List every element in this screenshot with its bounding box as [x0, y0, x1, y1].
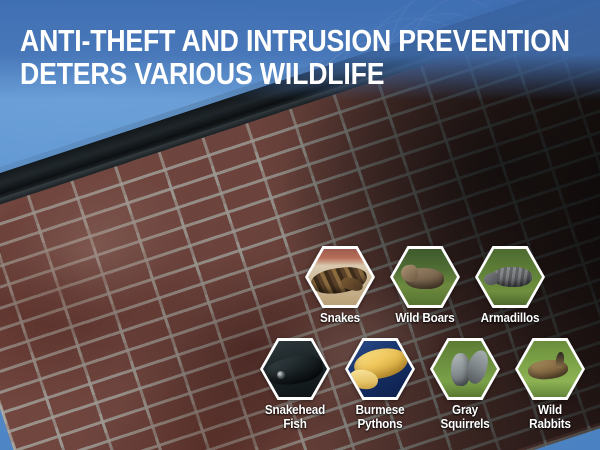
title-line-2: DETERS VARIOUS WILDLIFE: [20, 57, 502, 90]
badge-label-line-2: Pythons: [358, 416, 403, 431]
badge-wild-rabbits[interactable]: Wild Rabbits: [514, 338, 586, 431]
badge-label-line-2: Fish: [283, 416, 306, 431]
badge-label: Wild Rabbits: [518, 403, 583, 431]
badge-label-line-1: Armadillos: [481, 310, 540, 325]
badge-label: Armadillos: [478, 311, 543, 325]
badge-snakes[interactable]: Snakes: [304, 246, 376, 325]
hex-frame: [390, 246, 460, 308]
badge-label: Gray Squirrels: [433, 403, 498, 431]
badge-snakehead-fish[interactable]: Snakehead Fish: [259, 338, 331, 431]
hex-frame: [430, 338, 500, 400]
badge-armadillos[interactable]: Armadillos: [474, 246, 546, 325]
hex-frame: [345, 338, 415, 400]
hex-frame: [515, 338, 585, 400]
badge-label-line-1: Gray: [452, 402, 478, 417]
badge-gray-squirrels[interactable]: Gray Squirrels: [429, 338, 501, 431]
hex-frame: [475, 246, 545, 308]
badge-label-line-2: Squirrels: [440, 416, 489, 431]
hex-frame: [305, 246, 375, 308]
hex-frame: [260, 338, 330, 400]
wildlife-deterrent-poster: ANTI-THEFT AND INTRUSION PREVENTION DETE…: [0, 0, 600, 450]
badge-burmese-pythons[interactable]: Burmese Pythons: [344, 338, 416, 431]
page-title: ANTI-THEFT AND INTRUSION PREVENTION DETE…: [20, 24, 502, 90]
badge-label: Burmese Pythons: [348, 403, 413, 431]
title-line-1: ANTI-THEFT AND INTRUSION PREVENTION: [20, 23, 570, 58]
badge-label-line-1: Wild: [538, 402, 562, 417]
badge-label: Snakes: [308, 311, 373, 325]
badge-label-line-1: Wild Boars: [395, 310, 454, 325]
badge-label-line-1: Burmese: [356, 402, 405, 417]
badge-label-line-1: Snakes: [320, 310, 360, 325]
badge-label: Snakehead Fish: [263, 403, 328, 431]
badge-label: Wild Boars: [393, 311, 458, 325]
badge-wild-boars[interactable]: Wild Boars: [389, 246, 461, 325]
badge-label-line-2: Rabbits: [529, 416, 571, 431]
badge-label-line-1: Snakehead: [265, 402, 325, 417]
